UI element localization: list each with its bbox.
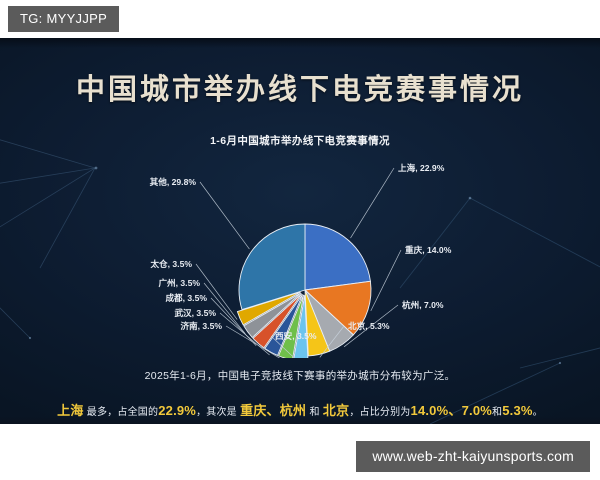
pie-data-label: 济南, 3.5% xyxy=(180,320,222,331)
pie-data-label: 杭州, 7.0% xyxy=(402,299,444,310)
pie-data-label: 西安, 3.5% xyxy=(275,330,317,341)
infographic-poster: 中国城市举办线下电竞赛事情况 1-6月中国城市举办线下电竞赛事情况 上海, 22… xyxy=(0,38,600,424)
statement-sep-1: 、 xyxy=(448,403,461,418)
page-title: 中国城市举办线下电竞赛事情况 xyxy=(0,66,600,108)
pie-data-label: 北京, 5.3% xyxy=(348,320,390,331)
statement-pct-shanghai: 22.9% xyxy=(158,403,196,418)
statement-line-2: 上海 最多，占全国的22.9%，其次是 重庆、杭州 和 北京，占比分别为14.0… xyxy=(0,400,600,419)
statement-text-b: ，其次是 xyxy=(196,407,237,418)
pie-data-label: 其他, 29.8% xyxy=(150,176,197,187)
statement-pct-beijing: 5.3% xyxy=(502,403,532,418)
screenshot-root: TG: MYYJJPP 中国城市举办线下电竞赛事情况 xyxy=(0,0,600,480)
statement-city-beijing: 北京 xyxy=(323,403,349,418)
pie-data-label: 上海, 22.9% xyxy=(398,162,445,173)
pie-leader-line xyxy=(200,182,249,249)
pie-data-label: 重庆, 14.0% xyxy=(405,244,452,255)
pie-chart-block: 1-6月中国城市举办线下电竞赛事情况 上海, 22.9%重庆, 14.0%杭州,… xyxy=(0,133,600,358)
statement-line-1: 2025年1-6月，中国电子竞技线下赛事的举办城市分布较为广泛。 xyxy=(0,368,600,383)
pie-leader-line xyxy=(371,250,401,311)
statement-text-a: 最多，占全国的 xyxy=(87,407,158,418)
statement-text-c: 和 xyxy=(309,407,319,418)
tg-handle-badge: TG: MYYJJPP xyxy=(8,6,119,32)
pie-data-label: 太仓, 3.5% xyxy=(150,258,192,269)
statement-cities-cq-hz: 重庆、杭州 xyxy=(240,403,306,418)
pie-chart: 上海, 22.9%重庆, 14.0%杭州, 7.0%北京, 5.3%西安, 3.… xyxy=(0,143,600,358)
statement-text-e: 和 xyxy=(492,407,502,418)
summary-statement: 2025年1-6月，中国电子竞技线下赛事的举办城市分布较为广泛。 上海 最多，占… xyxy=(0,368,600,419)
poster-top-gradient xyxy=(0,38,600,48)
statement-text-f: 。 xyxy=(533,407,543,418)
statement-city-shanghai: 上海 xyxy=(57,403,83,418)
statement-pct-chongqing: 14.0% xyxy=(411,403,449,418)
pie-data-label: 广州, 3.5% xyxy=(158,277,200,288)
pie-leader-line xyxy=(351,168,395,238)
statement-pct-hangzhou: 7.0% xyxy=(462,403,492,418)
statement-text-d: ，占比分别为 xyxy=(349,407,410,418)
site-watermark: www.web-zht-kaiyunsports.com xyxy=(356,441,590,472)
pie-slice xyxy=(305,224,370,290)
pie-data-label: 武汉, 3.5% xyxy=(174,307,216,318)
pie-data-label: 成都, 3.5% xyxy=(165,292,207,303)
